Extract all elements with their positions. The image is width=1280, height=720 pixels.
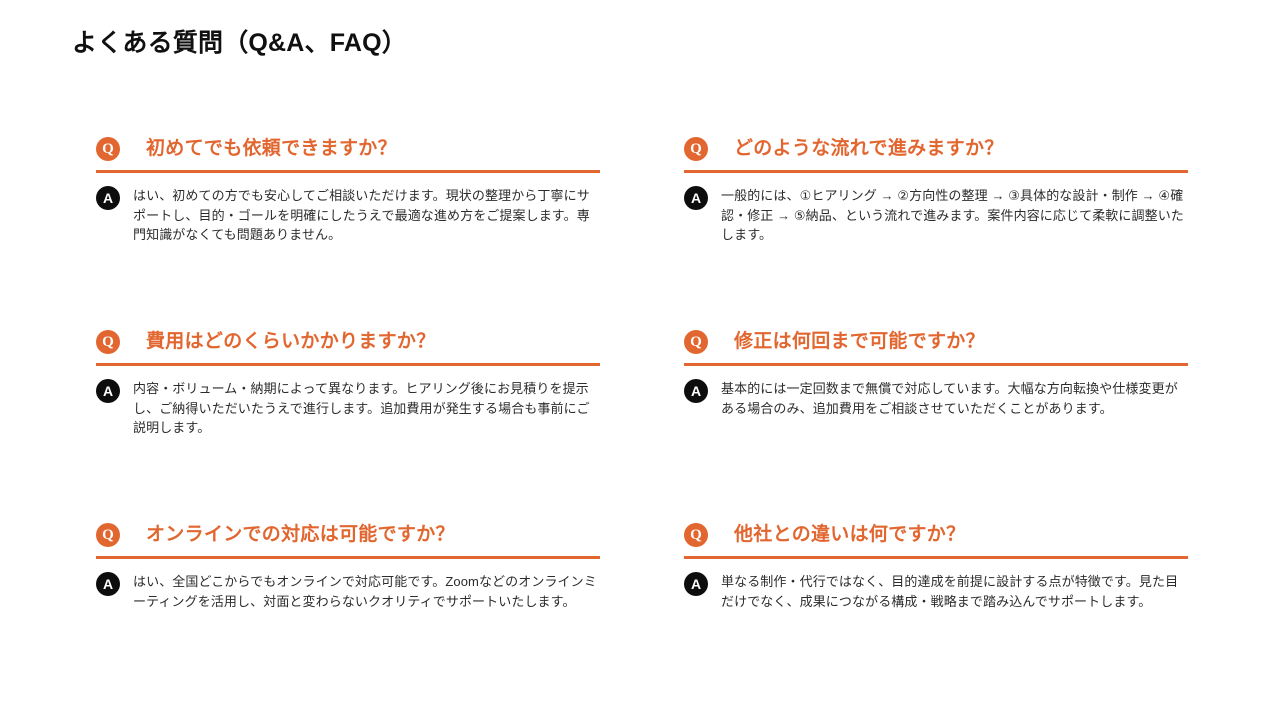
- question-badge-icon: Q: [684, 137, 708, 161]
- page-title: よくある質問（Q&A、FAQ）: [72, 28, 407, 58]
- faq-question: Q 修正は何回まで可能ですか？: [684, 329, 1188, 355]
- faq-question: Q 他社との違いは何ですか？: [684, 522, 1188, 548]
- answer-badge-icon: A: [96, 186, 120, 210]
- faq-answer: A はい、初めての方でも安心してご相談いただけます。現状の整理から丁寧にサポート…: [96, 186, 600, 245]
- faq-question: Q どのような流れで進みますか？: [684, 136, 1188, 162]
- faq-divider: [684, 556, 1188, 559]
- question-badge-icon: Q: [96, 137, 120, 161]
- answer-badge-icon: A: [684, 186, 708, 210]
- faq-item: Q オンラインでの対応は可能ですか？ A はい、全国どこからでもオンラインで対応…: [96, 522, 600, 715]
- faq-divider: [96, 363, 600, 366]
- faq-question-text: どのような流れで進みますか？: [734, 138, 1004, 160]
- faq-answer: A 一般的には、①ヒアリング → ②方向性の整理 → ③具体的な設計・制作 → …: [684, 186, 1188, 245]
- faq-divider: [96, 170, 600, 173]
- faq-item: Q 他社との違いは何ですか？ A 単なる制作・代行ではなく、目的達成を前提に設計…: [684, 522, 1188, 715]
- answer-badge-icon: A: [684, 572, 708, 596]
- faq-question-text: 修正は何回まで可能ですか？: [734, 331, 985, 353]
- faq-question: Q オンラインでの対応は可能ですか？: [96, 522, 600, 548]
- faq-answer: A 単なる制作・代行ではなく、目的達成を前提に設計する点が特徴です。見た目だけで…: [684, 572, 1188, 611]
- faq-answer: A 基本的には一定回数まで無償で対応しています。大幅な方向転換や仕様変更がある場…: [684, 379, 1188, 418]
- faq-answer-text: 一般的には、①ヒアリング → ②方向性の整理 → ③具体的な設計・制作 → ④確…: [721, 186, 1187, 245]
- faq-answer-text: 基本的には一定回数まで無償で対応しています。大幅な方向転換や仕様変更がある場合の…: [721, 379, 1187, 418]
- faq-list: Q 初めてでも依頼できますか？ A はい、初めての方でも安心してご相談いただけま…: [96, 136, 1188, 715]
- faq-answer-text: 内容・ボリューム・納期によって異なります。ヒアリング後にお見積りを提示し、ご納得…: [133, 379, 599, 438]
- faq-answer-text: はい、初めての方でも安心してご相談いただけます。現状の整理から丁寧にサポートし、…: [133, 186, 599, 245]
- faq-question: Q 費用はどのくらいかかりますか？: [96, 329, 600, 355]
- faq-question-text: オンラインでの対応は可能ですか？: [146, 524, 455, 546]
- faq-answer-text: 単なる制作・代行ではなく、目的達成を前提に設計する点が特徴です。見た目だけでなく…: [721, 572, 1187, 611]
- question-badge-icon: Q: [684, 330, 708, 354]
- question-badge-icon: Q: [684, 523, 708, 547]
- answer-badge-icon: A: [684, 379, 708, 403]
- faq-item: Q 費用はどのくらいかかりますか？ A 内容・ボリューム・納期によって異なります…: [96, 329, 600, 522]
- faq-question-text: 他社との違いは何ですか？: [734, 524, 965, 546]
- faq-answer: A 内容・ボリューム・納期によって異なります。ヒアリング後にお見積りを提示し、ご…: [96, 379, 600, 438]
- faq-divider: [96, 556, 600, 559]
- faq-item: Q 初めてでも依頼できますか？ A はい、初めての方でも安心してご相談いただけま…: [96, 136, 600, 329]
- question-badge-icon: Q: [96, 330, 120, 354]
- faq-item: Q 修正は何回まで可能ですか？ A 基本的には一定回数まで無償で対応しています。…: [684, 329, 1188, 522]
- question-badge-icon: Q: [96, 523, 120, 547]
- faq-question: Q 初めてでも依頼できますか？: [96, 136, 600, 162]
- faq-answer: A はい、全国どこからでもオンラインで対応可能です。Zoomなどのオンラインミー…: [96, 572, 600, 611]
- faq-question-text: 費用はどのくらいかかりますか？: [146, 331, 436, 353]
- faq-divider: [684, 363, 1188, 366]
- answer-badge-icon: A: [96, 379, 120, 403]
- faq-item: Q どのような流れで進みますか？ A 一般的には、①ヒアリング → ②方向性の整…: [684, 136, 1188, 329]
- faq-question-text: 初めてでも依頼できますか？: [146, 138, 397, 160]
- faq-answer-text: はい、全国どこからでもオンラインで対応可能です。Zoomなどのオンラインミーティ…: [133, 572, 599, 611]
- answer-badge-icon: A: [96, 572, 120, 596]
- faq-divider: [684, 170, 1188, 173]
